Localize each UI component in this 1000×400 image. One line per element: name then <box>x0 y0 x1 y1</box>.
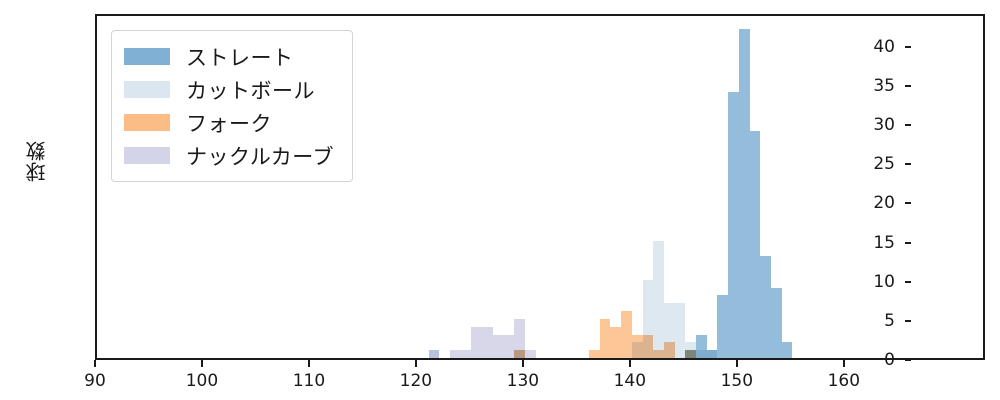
histogram-bar <box>589 350 600 358</box>
legend-swatch <box>124 147 170 164</box>
legend-item: フォーク <box>124 106 334 139</box>
histogram-bar <box>717 295 728 358</box>
x-tick-label: 150 <box>721 371 753 391</box>
y-axis-label: 球数 <box>22 140 51 182</box>
legend-item: ナックルカーブ <box>124 139 334 172</box>
x-tick-label: 160 <box>828 371 860 391</box>
histogram-bar <box>771 288 782 358</box>
histogram-bar <box>728 92 739 358</box>
histogram-bar <box>514 319 525 358</box>
x-tick-mark <box>736 360 738 367</box>
histogram-bar <box>750 131 761 358</box>
x-tick-label: 100 <box>186 371 218 391</box>
x-tick-mark <box>94 360 96 367</box>
legend-swatch <box>124 114 170 131</box>
histogram-bar <box>760 256 771 358</box>
x-tick-label: 140 <box>614 371 646 391</box>
histogram-bar <box>450 350 461 358</box>
histogram-bar <box>610 327 621 358</box>
histogram-bar <box>482 327 493 358</box>
histogram-bar <box>525 350 536 358</box>
legend-item: カットボール <box>124 73 334 106</box>
histogram-bar <box>707 350 718 358</box>
x-tick-mark <box>522 360 524 367</box>
x-tick-mark <box>843 360 845 367</box>
histogram-bar <box>653 241 664 358</box>
histogram-bar <box>685 350 696 358</box>
histogram-bar <box>429 350 440 358</box>
histogram-bar <box>782 342 793 358</box>
x-tick-label: 90 <box>84 371 106 391</box>
histogram-bar <box>493 335 504 358</box>
legend-label: ナックルカーブ <box>186 141 334 171</box>
histogram-bar <box>653 350 664 358</box>
x-tick-label: 110 <box>293 371 325 391</box>
histogram-bar <box>461 350 472 358</box>
x-tick-mark <box>201 360 203 367</box>
histogram-bar <box>471 327 482 358</box>
histogram-bar <box>696 350 707 358</box>
legend-item: ストレート <box>124 40 334 73</box>
x-tick-mark <box>629 360 631 367</box>
legend-label: カットボール <box>186 75 315 105</box>
histogram-bar <box>503 335 514 358</box>
legend-label: ストレート <box>186 42 294 72</box>
histogram-bar <box>664 342 675 358</box>
histogram-figure: 球数 0510152025303540 90100110120130140150… <box>0 0 1000 400</box>
histogram-bar <box>600 319 611 358</box>
histogram-bar <box>632 335 643 358</box>
legend: ストレートカットボールフォークナックルカーブ <box>111 30 353 182</box>
histogram-bar <box>621 311 632 358</box>
legend-label: フォーク <box>186 108 272 138</box>
histogram-bar <box>675 303 686 358</box>
x-tick-label: 130 <box>507 371 539 391</box>
legend-swatch <box>124 81 170 98</box>
x-tick-mark <box>308 360 310 367</box>
legend-swatch <box>124 48 170 65</box>
histogram-bar <box>739 29 750 358</box>
x-tick-mark <box>415 360 417 367</box>
y-axis: 球数 <box>0 0 95 400</box>
histogram-bar <box>643 335 654 358</box>
x-tick-label: 120 <box>400 371 432 391</box>
